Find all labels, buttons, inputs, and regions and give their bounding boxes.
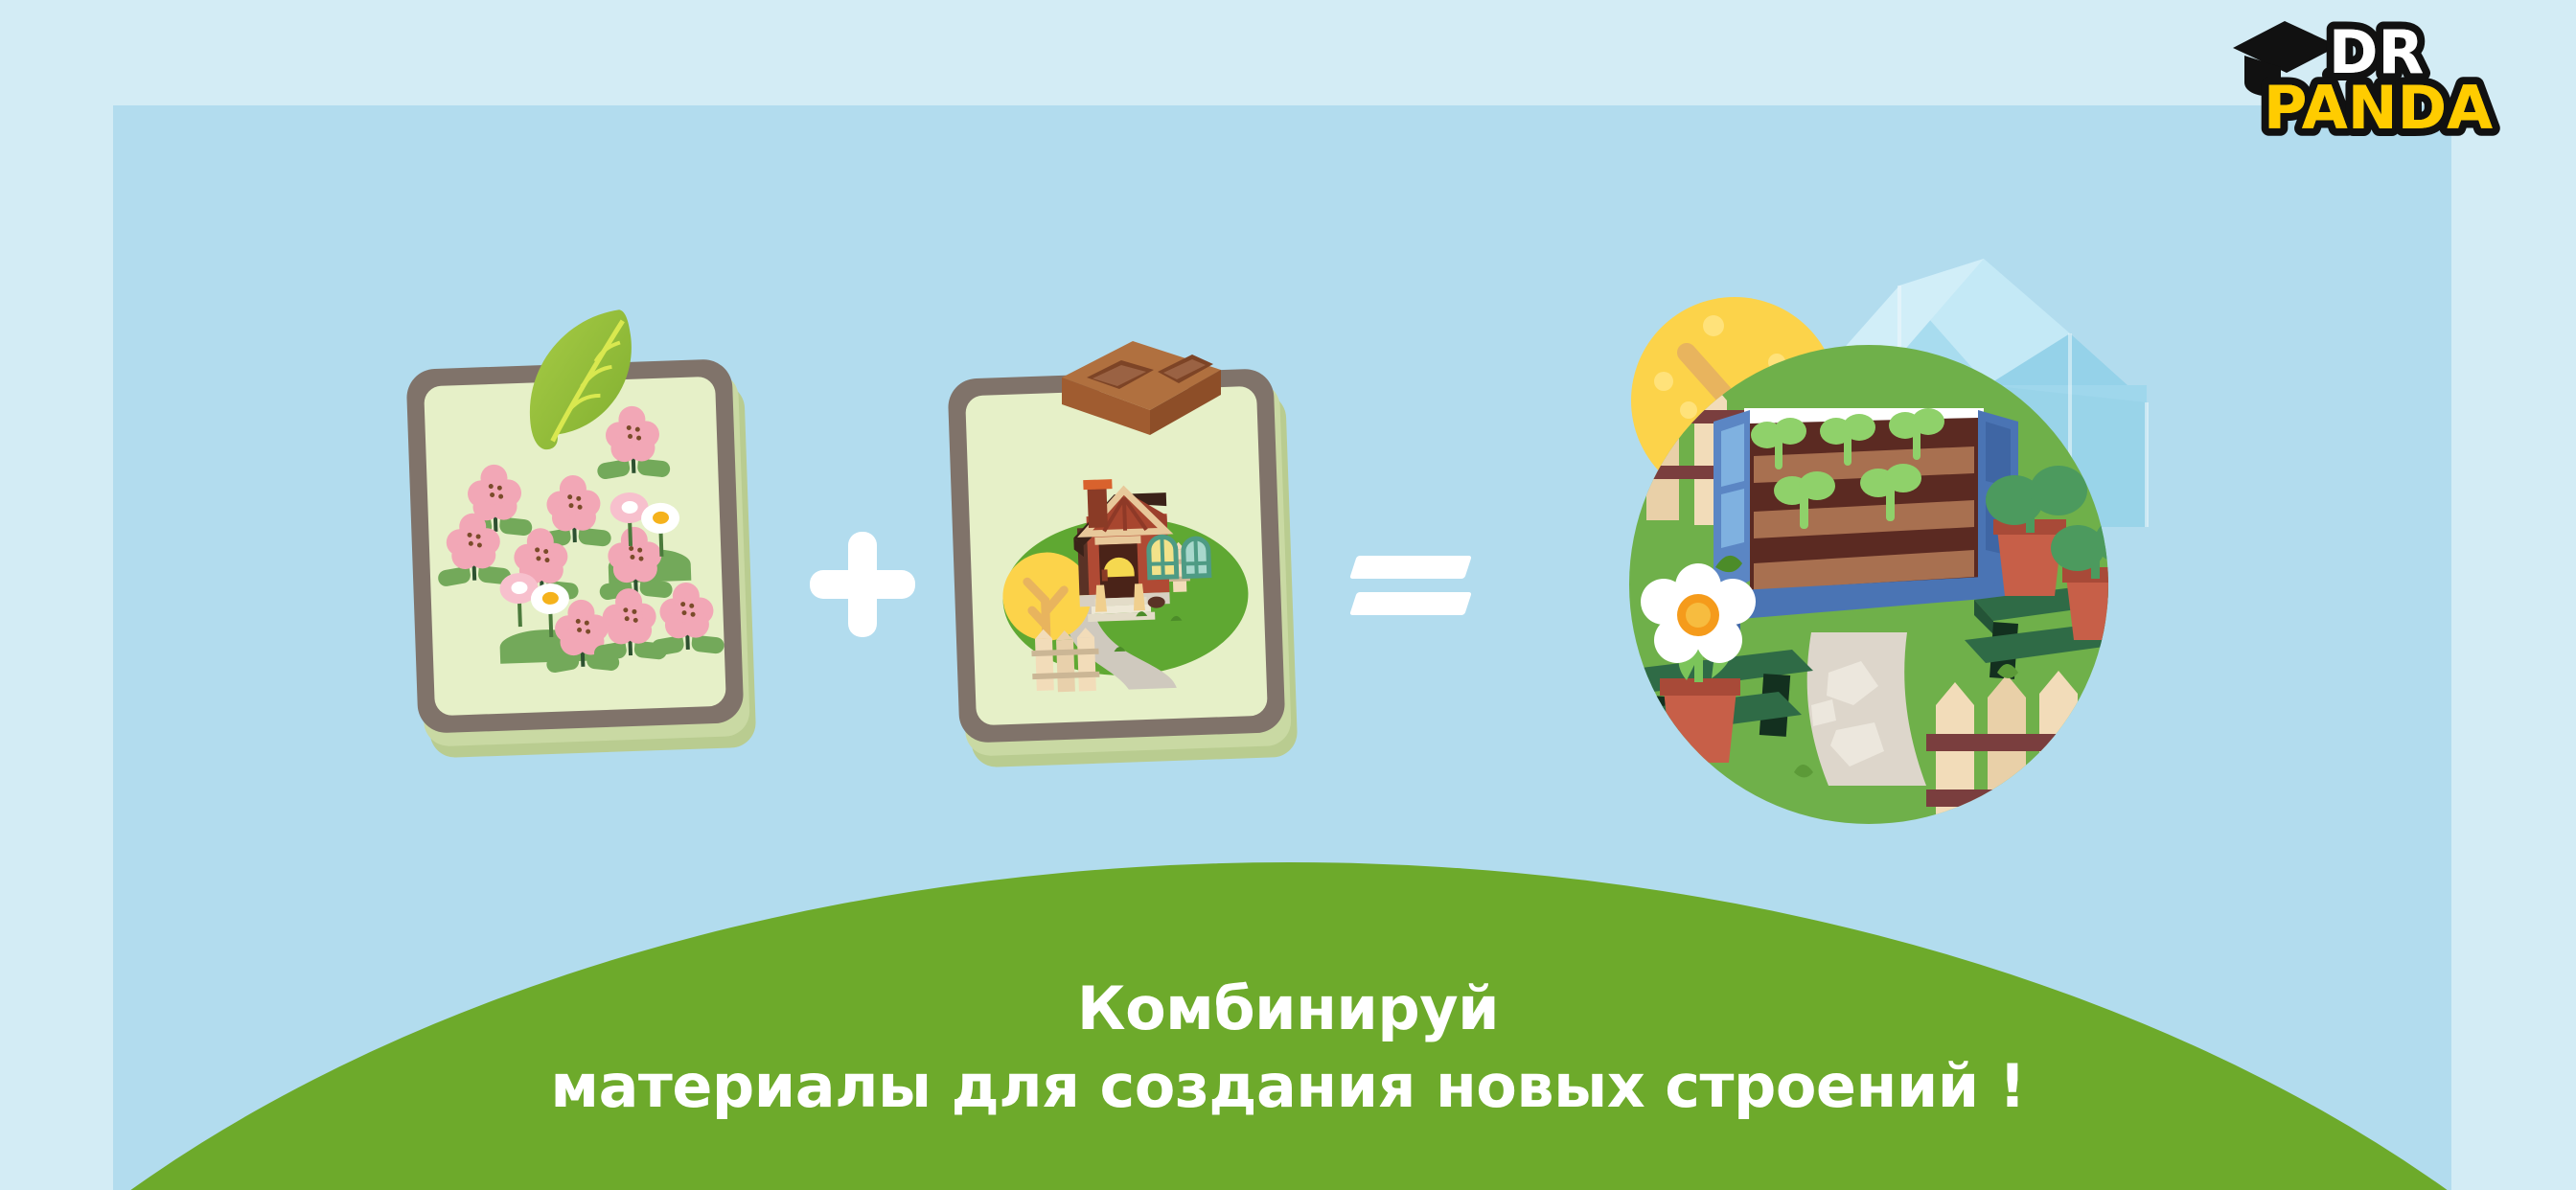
plus-operator <box>810 532 915 637</box>
dr-panda-logo[interactable]: DR DR PANDA PANDA <box>2225 6 2541 140</box>
caption-line-1: Комбинируй <box>0 977 2576 1041</box>
leaf-icon <box>506 309 650 452</box>
banner-stage: DR DR PANDA PANDA Комбинируй материалы д… <box>0 0 2576 1190</box>
brick-icon <box>1054 335 1227 441</box>
pink-flower <box>658 582 715 654</box>
white-daisy <box>640 502 680 557</box>
pink-flower <box>446 513 502 585</box>
caption-block: Комбинируй материалы для создания новых … <box>0 977 2576 1119</box>
greenhouse-result[interactable] <box>1572 240 2166 834</box>
equals-operator <box>1353 552 1478 629</box>
logo-text-panda-fill: PANDA <box>2264 73 2493 140</box>
combine-equation <box>0 0 2576 862</box>
caption-line-2: материалы для создания новых строений ! <box>0 1055 2576 1119</box>
pink-flower <box>602 587 658 660</box>
